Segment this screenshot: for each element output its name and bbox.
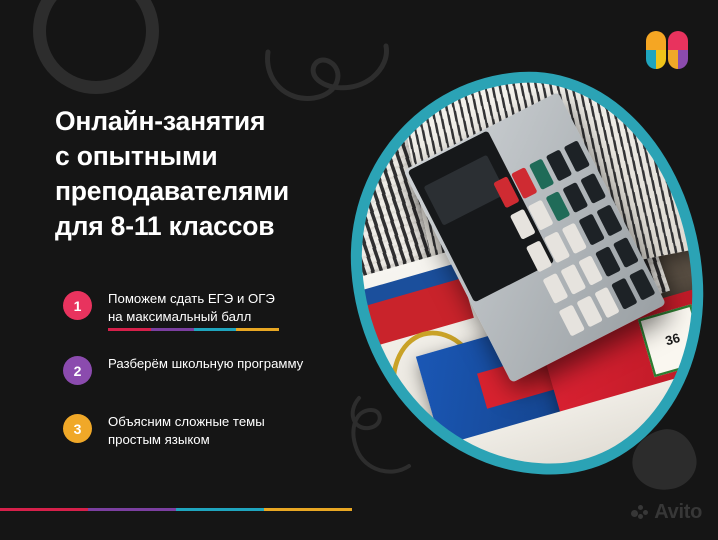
- feature-text-2: Разберём школьную программу: [108, 355, 303, 375]
- feature-badge-1: 1: [63, 291, 92, 320]
- feature-text-3: Объясним сложные темы простым языком: [108, 413, 265, 450]
- brand-logo-icon: [646, 31, 688, 69]
- avito-logo-icon: [631, 505, 648, 520]
- avito-label: Avito: [654, 501, 702, 524]
- bar-seg-1: [0, 508, 88, 511]
- feature-list: 1 Поможем сдать ЕГЭ и ОГЭ на максимальны…: [63, 290, 363, 450]
- headline-line-1: Онлайн-занятия: [55, 104, 355, 139]
- avito-watermark: Avito: [631, 501, 702, 524]
- list-item: 3 Объясним сложные темы простым языком: [63, 413, 363, 450]
- feature-1-line-1: Поможем сдать ЕГЭ и ОГЭ: [108, 290, 275, 308]
- underline-seg-1: [108, 328, 151, 331]
- bar-seg-4: [264, 508, 352, 511]
- list-item: 2 Разберём школьную программу: [63, 355, 363, 385]
- feature-badge-2: 2: [63, 356, 92, 385]
- page-title: Онлайн-занятия с опытными преподавателям…: [55, 104, 355, 244]
- underline-seg-3: [194, 328, 237, 331]
- decorative-ring: [33, 0, 159, 94]
- feature-underline: [108, 328, 279, 331]
- underline-seg-2: [151, 328, 194, 331]
- feature-1-line-2: на максимальный балл: [108, 308, 275, 326]
- headline-line-3: преподавателями: [55, 174, 355, 209]
- bar-seg-2: [88, 508, 176, 511]
- poster-canvas: 36 Онлайн-занятия с опытными препода: [0, 0, 718, 540]
- feature-3-line-2: простым языком: [108, 431, 265, 449]
- bottom-accent-bar: [0, 508, 352, 511]
- headline-line-2: с опытными: [55, 139, 355, 174]
- feature-badge-3: 3: [63, 414, 92, 443]
- underline-seg-4: [236, 328, 279, 331]
- hero-photo: 36: [352, 72, 702, 476]
- bar-seg-3: [176, 508, 264, 511]
- list-item: 1 Поможем сдать ЕГЭ и ОГЭ на максимальны…: [63, 290, 363, 327]
- headline-line-4: для 8-11 классов: [55, 209, 355, 244]
- feature-3-line-1: Объясним сложные темы: [108, 413, 265, 431]
- feature-2-line-1: Разберём школьную программу: [108, 355, 303, 373]
- feature-text-1: Поможем сдать ЕГЭ и ОГЭ на максимальный …: [108, 290, 275, 327]
